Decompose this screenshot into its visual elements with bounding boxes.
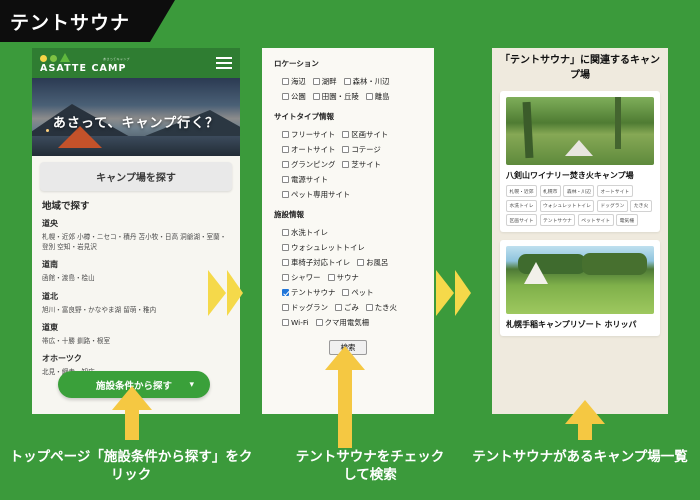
site-header: あさってキャンプ ASATTE CAMP (32, 48, 240, 78)
checkbox-icon[interactable] (282, 93, 289, 100)
filter-checkbox-label: クマ用電気柵 (325, 317, 369, 328)
result-title: 札幌手稲キャンプリゾート ホリッパ (506, 319, 654, 330)
checkbox-icon[interactable] (282, 319, 289, 326)
filter-checkbox-ペット専用サイト[interactable]: ペット専用サイト (282, 189, 350, 200)
filter-checkbox-公園[interactable]: 公園 (282, 91, 306, 102)
filter-checkbox-お風呂[interactable]: お風呂 (357, 257, 388, 268)
chevron-right-icon (208, 270, 226, 316)
checkbox-icon[interactable] (282, 274, 289, 281)
checkbox-icon[interactable] (282, 131, 289, 138)
hamburger-menu-icon[interactable] (216, 57, 232, 69)
region-name: 道南 (42, 259, 230, 270)
callout-arrow-2-icon (325, 346, 365, 448)
checkbox-icon[interactable] (282, 146, 289, 153)
result-tag[interactable]: ドッグラン (597, 200, 628, 212)
filter-checkbox-コテージ[interactable]: コテージ (342, 144, 380, 155)
arrow-head (325, 346, 365, 370)
filter-row: 水洗トイレ (274, 227, 422, 238)
filter-row: シャワーサウナ (274, 272, 422, 283)
result-card[interactable]: 札幌手稲キャンプリゾート ホリッパ (500, 240, 660, 336)
filter-checkbox-label: グランピング (291, 159, 335, 170)
caption-step-2: テントサウナをチェックして検索 (290, 448, 450, 484)
filter-checkbox-label: 公園 (291, 91, 306, 102)
checkbox-icon[interactable] (316, 319, 323, 326)
checkbox-icon[interactable] (282, 176, 289, 183)
checkbox-icon[interactable] (282, 229, 289, 236)
filter-checkbox-label: 田園・丘陵 (322, 91, 359, 102)
checkbox-icon[interactable] (344, 78, 351, 85)
region-block: 道北 旭川・富良野・かなやま湖 留萌・稚内 (42, 291, 230, 315)
filter-row: ドッグランごみたき火 (274, 302, 422, 313)
flow-arrow-2-icon (436, 270, 471, 316)
filter-checkbox-離島[interactable]: 離島 (366, 91, 390, 102)
checkbox-icon[interactable] (357, 259, 364, 266)
region-name: 道央 (42, 218, 230, 229)
flow-arrow-1-icon (208, 270, 243, 316)
filter-row: テントサウナペット (274, 287, 422, 298)
logo-dot-green-icon (50, 55, 57, 62)
filter-checkbox-label: オートサイト (291, 144, 335, 155)
site-logo[interactable]: あさってキャンプ ASATTE CAMP (40, 53, 130, 74)
filter-checkbox-label: コテージ (351, 144, 380, 155)
chevron-right-icon (227, 270, 243, 316)
filter-checkbox-水洗トイレ[interactable]: 水洗トイレ (282, 227, 328, 238)
filter-checkbox-ドッグラン[interactable]: ドッグラン (282, 302, 328, 313)
filter-checkbox-label: たき火 (375, 302, 397, 313)
filter-checkbox-label: 海辺 (291, 76, 306, 87)
screenshot-panel-results: 「テントサウナ」に関連するキャンプ場 八剣山ワイナリー焚き火キャンプ場 札幌・近… (492, 48, 668, 414)
filter-checkbox-電源サイト[interactable]: 電源サイト (282, 174, 328, 185)
filter-checkbox-シャワー[interactable]: シャワー (282, 272, 321, 283)
checkbox-icon[interactable] (342, 289, 349, 296)
filter-row: グランピング芝サイト (274, 159, 422, 170)
screenshot-panel-top-page: あさってキャンプ ASATTE CAMP あさって、キャンプ行く？ キャンプ場を… (32, 48, 240, 414)
filter-row: Wi-Fiクマ用電気柵 (274, 317, 422, 328)
page-title-banner: テントサウナ (0, 0, 175, 42)
filter-checkbox-label: 車椅子対応トイレ (291, 257, 350, 268)
result-tag[interactable]: 電気柵 (616, 214, 637, 226)
logo-mark-icon: あさってキャンプ (40, 53, 130, 62)
region-name: 道北 (42, 291, 230, 302)
filter-checkbox-ペット[interactable]: ペット (342, 287, 373, 298)
filter-checkbox-Wi-Fi[interactable]: Wi-Fi (282, 317, 309, 328)
chevron-down-icon: ▾ (189, 380, 194, 390)
checkbox-icon[interactable] (282, 304, 289, 311)
region-items[interactable]: 旭川・富良野・かなやま湖 留萌・稚内 (42, 305, 230, 315)
checkbox-checked-icon[interactable] (282, 289, 289, 296)
caption-step-1: トップページ「施設条件から探す」をクリック (6, 448, 256, 484)
checkbox-icon[interactable] (282, 259, 289, 266)
checkbox-icon[interactable] (282, 161, 289, 168)
thumbnail-tent-icon (524, 262, 548, 284)
region-name: 道東 (42, 322, 230, 333)
checkbox-icon[interactable] (313, 93, 320, 100)
result-tag[interactable]: 水洗トイレ (506, 200, 537, 212)
region-block: 道南 函館・渡島・桧山 (42, 259, 230, 283)
filter-row: 海辺湖畔森林・川辺 (274, 76, 422, 87)
filter-checkbox-区画サイト[interactable]: 区画サイト (342, 129, 388, 140)
filter-checkbox-label: ペット (351, 287, 373, 298)
filter-checkbox-サウナ[interactable]: サウナ (328, 272, 359, 283)
logo-wordmark: ASATTE CAMP (40, 64, 130, 74)
filter-section-title: サイトタイプ情報 (274, 111, 422, 122)
search-camps-bar[interactable]: キャンプ場を探す (40, 162, 232, 191)
chevron-right-icon (455, 270, 471, 316)
checkbox-icon[interactable] (335, 304, 342, 311)
filter-checkbox-label: ウォシュレットトイレ (291, 242, 365, 253)
arrow-stem (578, 424, 592, 440)
filter-checkbox-label: 湖畔 (322, 76, 337, 87)
filter-checkbox-label: 水洗トイレ (291, 227, 328, 238)
filter-checkbox-グランピング[interactable]: グランピング (282, 159, 335, 170)
checkbox-icon[interactable] (313, 78, 320, 85)
checkbox-icon[interactable] (282, 78, 289, 85)
filter-checkbox-芝サイト[interactable]: 芝サイト (342, 159, 381, 170)
result-thumbnail (506, 97, 654, 165)
filter-checkbox-ごみ[interactable]: ごみ (335, 302, 359, 313)
hero-image: あさって、キャンプ行く？ (32, 78, 240, 156)
checkbox-icon[interactable] (366, 304, 373, 311)
filter-checkbox-湖畔[interactable]: 湖畔 (313, 76, 337, 87)
filter-section-title: ロケーション (274, 58, 422, 69)
region-items[interactable]: 札幌・近郊 小樽・ニセコ・積丹 苫小牧・日高 洞爺湖・室蘭・登別 空知・岩見沢 (42, 232, 230, 252)
thumbnail-tent-icon (565, 140, 593, 156)
region-block: 道東 帯広・十勝 釧路・根室 (42, 322, 230, 346)
filter-checkbox-田園・丘陵[interactable]: 田園・丘陵 (313, 91, 359, 102)
checkbox-icon[interactable] (342, 131, 349, 138)
filter-row: 公園田園・丘陵離島 (274, 91, 422, 102)
filter-checkbox-label: 区画サイト (351, 129, 388, 140)
filter-checkbox-クマ用電気柵[interactable]: クマ用電気柵 (316, 317, 369, 328)
region-section-title: 地域で探す (42, 198, 230, 212)
filter-checkbox-オートサイト[interactable]: オートサイト (282, 144, 335, 155)
callout-arrow-3-icon (565, 400, 605, 440)
arrow-head (565, 400, 605, 424)
filter-checkbox-label: 芝サイト (351, 159, 381, 170)
filter-checkbox-車椅子対応トイレ[interactable]: 車椅子対応トイレ (282, 257, 350, 268)
result-tag[interactable]: 区画サイト (506, 214, 537, 226)
filter-checkbox-テントサウナ[interactable]: テントサウナ (282, 287, 335, 298)
result-tag[interactable]: テントサウナ (540, 214, 576, 226)
filter-checkbox-森林・川辺[interactable]: 森林・川辺 (344, 76, 390, 87)
filter-checkbox-label: サウナ (337, 272, 359, 283)
checkbox-icon[interactable] (282, 244, 289, 251)
hero-headline: あさって、キャンプ行く？ (32, 112, 240, 131)
filter-row: オートサイトコテージ (274, 144, 422, 155)
logo-tent-icon (60, 53, 70, 62)
result-tag[interactable]: 森林・川辺 (563, 185, 594, 197)
region-block: 道央 札幌・近郊 小樽・ニセコ・積丹 苫小牧・日高 洞爺湖・室蘭・登別 空知・岩… (42, 218, 230, 252)
filter-checkbox-label: 森林・川辺 (353, 76, 390, 87)
filter-checkbox-ウォシュレットトイレ[interactable]: ウォシュレットトイレ (282, 242, 365, 253)
filter-checkbox-label: フリーサイト (291, 129, 335, 140)
filter-form: ロケーション海辺湖畔森林・川辺公園田園・丘陵離島サイトタイプ情報フリーサイト区画… (262, 48, 434, 365)
region-name: オホーツク (42, 353, 230, 364)
region-items[interactable]: 帯広・十勝 釧路・根室 (42, 336, 230, 346)
logo-sub-text: あさってキャンプ (103, 58, 130, 61)
result-title: 八剣山ワイナリー焚き火キャンプ場 (506, 170, 654, 181)
caption-step-3: テントサウナがあるキャンプ場一覧 (470, 448, 690, 466)
results-heading: 「テントサウナ」に関連するキャンプ場 (492, 48, 668, 83)
filter-row: ウォシュレットトイレ (274, 242, 422, 253)
checkbox-icon[interactable] (366, 93, 373, 100)
filter-row: 電源サイト (274, 174, 422, 185)
filter-checkbox-海辺[interactable]: 海辺 (282, 76, 306, 87)
filter-checkbox-たき火[interactable]: たき火 (366, 302, 397, 313)
filter-checkbox-label: Wi-Fi (291, 318, 309, 327)
filter-section-title: 施設情報 (274, 209, 422, 220)
result-tag[interactable]: 札幌・近郊 (506, 185, 537, 197)
filter-row: 車椅子対応トイレお風呂 (274, 257, 422, 268)
filter-row: フリーサイト区画サイト (274, 129, 422, 140)
filter-checkbox-label: テントサウナ (291, 287, 335, 298)
result-tag[interactable]: ペットサイト (578, 214, 614, 226)
result-tag[interactable]: オートサイト (597, 185, 633, 197)
result-tag[interactable]: たき火 (630, 200, 651, 212)
result-tag[interactable]: 札幌市 (540, 185, 561, 197)
filter-checkbox-label: 電源サイト (291, 174, 328, 185)
filter-checkbox-label: シャワー (291, 272, 321, 283)
arrow-stem (338, 370, 352, 448)
filter-row: ペット専用サイト (274, 189, 422, 200)
filter-checkbox-label: ペット専用サイト (291, 189, 350, 200)
checkbox-icon[interactable] (342, 146, 349, 153)
filter-checkbox-label: 離島 (375, 91, 390, 102)
filter-checkbox-label: ドッグラン (291, 302, 328, 313)
page-title: テントサウナ (0, 8, 130, 35)
checkbox-icon[interactable] (328, 274, 335, 281)
result-thumbnail (506, 246, 654, 314)
filter-checkbox-フリーサイト[interactable]: フリーサイト (282, 129, 335, 140)
arrow-stem (125, 410, 139, 440)
arrow-head (112, 386, 152, 410)
callout-arrow-1-icon (112, 386, 152, 440)
chevron-right-icon (436, 270, 454, 316)
checkbox-icon[interactable] (282, 191, 289, 198)
logo-dot-yellow-icon (40, 55, 47, 62)
result-card[interactable]: 八剣山ワイナリー焚き火キャンプ場 札幌・近郊札幌市森林・川辺オートサイト水洗トイ… (500, 91, 660, 232)
checkbox-icon[interactable] (342, 161, 349, 168)
result-tag[interactable]: ウォシュレットトイレ (540, 200, 595, 212)
filter-checkbox-label: ごみ (344, 302, 359, 313)
filter-checkbox-label: お風呂 (366, 257, 388, 268)
filter-sections: ロケーション海辺湖畔森林・川辺公園田園・丘陵離島サイトタイプ情報フリーサイト区画… (274, 58, 422, 328)
result-tag-list: 札幌・近郊札幌市森林・川辺オートサイト水洗トイレウォシュレットトイレドッグランた… (506, 185, 654, 226)
region-items[interactable]: 函館・渡島・桧山 (42, 273, 230, 283)
